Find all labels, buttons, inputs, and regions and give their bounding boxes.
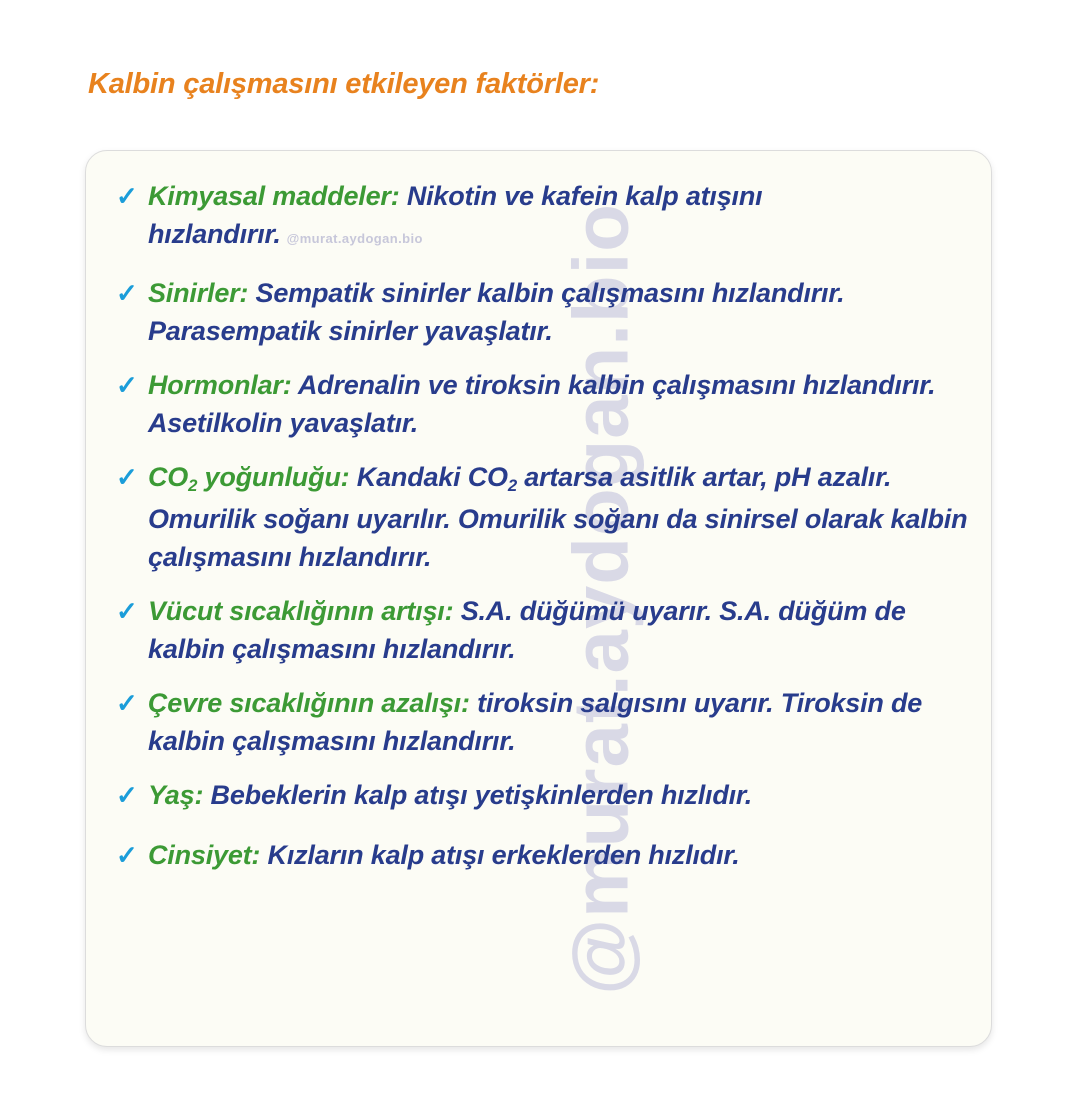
list-item-label: Sinirler: bbox=[148, 278, 248, 308]
list-item: ✓ Kimyasal maddeler: Nikotin ve kafein k… bbox=[108, 177, 969, 258]
list-item-body: Bebeklerin kalp atışı yetişkinlerden hız… bbox=[203, 780, 752, 810]
list-item: ✓ CO2 yoğunluğu: Kandaki CO2 artarsa asi… bbox=[108, 458, 969, 576]
list-item-label: Çevre sıcaklığının azalışı: bbox=[148, 688, 470, 718]
list-item-body: Sempatik sinirler kalbin çalışmasını hız… bbox=[148, 278, 844, 346]
label-formula-prefix: CO bbox=[148, 462, 188, 492]
list-item-body: Kızların kalp atışı erkeklerden hızlıdır… bbox=[260, 840, 739, 870]
list-item-label: Yaş: bbox=[148, 780, 203, 810]
list-item: ✓ Yaş: Bebeklerin kalp atışı yetişkinler… bbox=[108, 776, 969, 814]
list-item-text: Cinsiyet: Kızların kalp atışı erkeklerde… bbox=[148, 836, 969, 874]
check-mark-icon: ✓ bbox=[108, 274, 148, 312]
check-mark-icon: ✓ bbox=[108, 836, 148, 874]
list-item-text: Hormonlar: Adrenalin ve tiroksin kalbin … bbox=[148, 366, 969, 442]
factors-list: ✓ Kimyasal maddeler: Nikotin ve kafein k… bbox=[86, 151, 991, 906]
list-item-text: Sinirler: Sempatik sinirler kalbin çalış… bbox=[148, 274, 969, 350]
check-mark-icon: ✓ bbox=[108, 458, 148, 496]
list-item: ✓ Sinirler: Sempatik sinirler kalbin çal… bbox=[108, 274, 969, 350]
list-item: ✓ Vücut sıcaklığının artışı: S.A. düğümü… bbox=[108, 592, 969, 668]
list-item: ✓ Hormonlar: Adrenalin ve tiroksin kalbi… bbox=[108, 366, 969, 442]
page-title: Kalbin çalışmasını etkileyen faktörler: bbox=[88, 68, 599, 101]
body-formula-subscript: 2 bbox=[508, 476, 517, 495]
check-mark-icon: ✓ bbox=[108, 592, 148, 630]
list-item-label: Kimyasal maddeler: bbox=[148, 181, 400, 211]
check-mark-icon: ✓ bbox=[108, 776, 148, 814]
label-formula-suffix: yoğunluğu: bbox=[197, 462, 349, 492]
list-item-text: Yaş: Bebeklerin kalp atışı yetişkinlerde… bbox=[148, 776, 969, 814]
list-item-text: Kimyasal maddeler: Nikotin ve kafein kal… bbox=[148, 177, 969, 258]
list-item-label: Cinsiyet: bbox=[148, 840, 260, 870]
check-mark-icon: ✓ bbox=[108, 684, 148, 722]
body-formula-prefix: Kandaki CO bbox=[349, 462, 507, 492]
label-formula-subscript: 2 bbox=[188, 476, 197, 495]
list-item-text: Vücut sıcaklığının artışı: S.A. düğümü u… bbox=[148, 592, 969, 668]
list-item-label: Hormonlar: bbox=[148, 370, 292, 400]
inline-handle: @murat.aydogan.bio bbox=[287, 231, 423, 246]
factors-card: @murat.aydogan.bio ✓ Kimyasal maddeler: … bbox=[85, 150, 992, 1047]
list-item-label: CO2 yoğunluğu: bbox=[148, 462, 349, 492]
check-mark-icon: ✓ bbox=[108, 177, 148, 215]
list-item-text: Çevre sıcaklığının azalışı: tiroksin sal… bbox=[148, 684, 969, 760]
list-item-text: CO2 yoğunluğu: Kandaki CO2 artarsa asitl… bbox=[148, 458, 969, 576]
list-item-label: Vücut sıcaklığının artışı: bbox=[148, 596, 453, 626]
check-mark-icon: ✓ bbox=[108, 366, 148, 404]
list-item: ✓ Cinsiyet: Kızların kalp atışı erkekler… bbox=[108, 836, 969, 874]
list-item: ✓ Çevre sıcaklığının azalışı: tiroksin s… bbox=[108, 684, 969, 760]
